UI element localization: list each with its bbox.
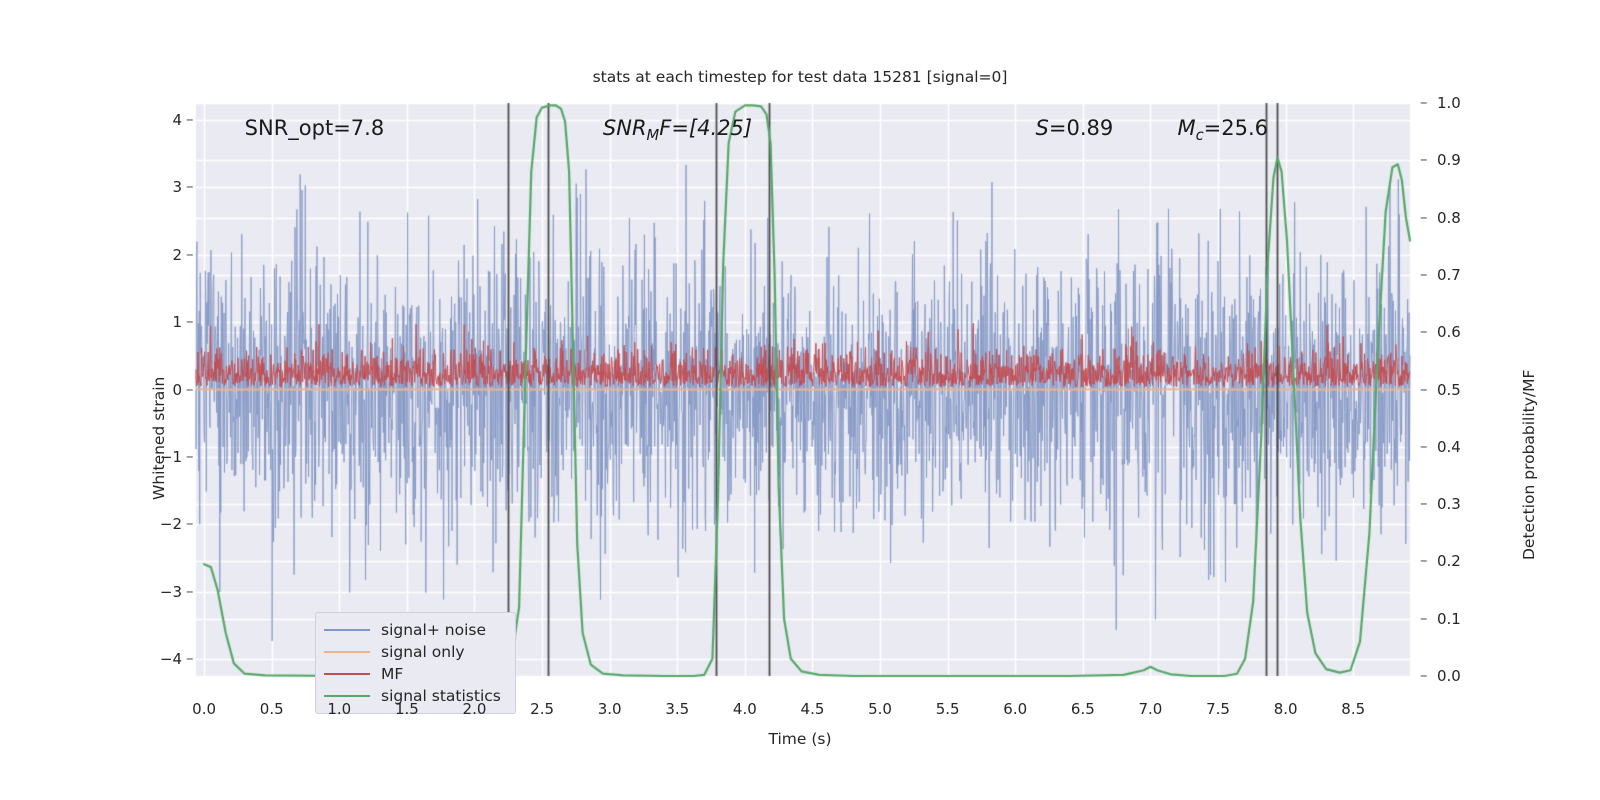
y-tick-label-left: −2 [150,515,182,533]
y-tick-mark-right: – [1420,609,1428,627]
y-tick-mark-left: – [186,582,194,600]
x-tick-label: 1.0 [327,700,351,718]
x-tick-label: 3.5 [665,700,689,718]
x-tick-label: 7.0 [1138,700,1162,718]
y-tick-label-right: 0.2 [1437,552,1461,570]
x-tick-label: 4.0 [733,700,757,718]
legend-color-swatch [324,651,370,653]
y-tick-mark-right: – [1420,150,1428,168]
y-tick-label-left: 3 [150,178,182,196]
x-tick-label: 2.0 [463,700,487,718]
plot-canvas [0,0,1600,800]
y-tick-label-left: −3 [150,583,182,601]
legend-item[interactable]: signal only [324,641,501,663]
legend-color-swatch [324,673,370,675]
y-tick-mark-left: – [186,447,194,465]
chart-title: stats at each timestep for test data 152… [0,68,1600,86]
x-tick-label: 0.5 [260,700,284,718]
y-tick-mark-right: – [1420,265,1428,283]
x-tick-label: 8.5 [1341,700,1365,718]
annotation-s-suffix: =0.89 [1049,116,1113,140]
x-tick-label: 6.0 [1003,700,1027,718]
x-tick-label: 5.0 [868,700,892,718]
y-tick-label-right: 0.9 [1437,151,1461,169]
annotation-mc-prefix: M [1177,116,1195,140]
legend-label: signal only [381,643,465,661]
x-tick-label: 8.0 [1274,700,1298,718]
y-tick-mark-left: – [186,245,194,263]
y-tick-mark-left: – [186,514,194,532]
y-tick-mark-right: – [1420,494,1428,512]
annotation-snr-mf: SNRMF=[4.25] [603,116,752,144]
y-tick-label-left: 4 [150,111,182,129]
annotation-mc-sub: c [1196,127,1204,144]
y-tick-label-left: 2 [150,246,182,264]
y-tick-mark-left: – [186,177,194,195]
x-axis-label: Time (s) [0,730,1600,748]
y-tick-mark-right: – [1420,93,1428,111]
legend-label: signal+ noise [381,621,486,639]
x-tick-label: 0.0 [192,700,216,718]
legend-item[interactable]: MF [324,663,501,685]
y-tick-label-right: 0.0 [1437,667,1461,685]
legend-label: MF [381,665,403,683]
legend-color-swatch [324,695,370,697]
y-tick-label-left: −1 [150,448,182,466]
y-tick-label-left: 1 [150,313,182,331]
y-tick-label-right: 0.4 [1437,438,1461,456]
y-axis-label-right: Detection probability/MF [1520,370,1538,560]
y-tick-label-left: −4 [150,650,182,668]
annotation-snr-mf-suffix: F=[4.25] [659,116,752,140]
y-tick-mark-right: – [1420,551,1428,569]
annotation-snr-mf-prefix: SNR [603,116,647,140]
y-tick-label-right: 0.5 [1437,381,1461,399]
figure: stats at each timestep for test data 152… [0,0,1600,800]
y-tick-mark-left: – [186,110,194,128]
y-tick-label-right: 1.0 [1437,94,1461,112]
y-tick-mark-right: – [1420,322,1428,340]
y-tick-label-right: 0.8 [1437,209,1461,227]
legend: signal+ noisesignal onlyMFsignal statist… [315,612,516,714]
annotation-snr-opt: SNR_opt=7.8 [245,116,385,140]
x-tick-label: 6.5 [1071,700,1095,718]
legend-item[interactable]: signal+ noise [324,619,501,641]
y-tick-label-right: 0.7 [1437,266,1461,284]
y-tick-mark-left: – [186,649,194,667]
y-tick-mark-right: – [1420,208,1428,226]
y-tick-mark-right: – [1420,437,1428,455]
y-tick-mark-left: – [186,380,194,398]
x-tick-label: 5.5 [936,700,960,718]
y-tick-mark-right: – [1420,666,1428,684]
annotation-chirp-mass: Mc=25.6 [1177,116,1268,144]
annotation-s-statistic: S=0.89 [1036,116,1114,140]
x-tick-label: 3.0 [598,700,622,718]
y-tick-label-left: 0 [150,381,182,399]
x-tick-label: 4.5 [801,700,825,718]
x-tick-label: 7.5 [1206,700,1230,718]
annotation-snr-mf-sub: M [647,127,660,144]
annotation-s-prefix: S [1036,116,1049,140]
y-tick-mark-left: – [186,312,194,330]
y-tick-mark-right: – [1420,380,1428,398]
y-tick-label-right: 0.6 [1437,323,1461,341]
y-tick-label-right: 0.3 [1437,495,1461,513]
x-tick-label: 1.5 [395,700,419,718]
legend-color-swatch [324,629,370,631]
annotation-mc-suffix: =25.6 [1204,116,1268,140]
y-tick-label-right: 0.1 [1437,610,1461,628]
x-tick-label: 2.5 [530,700,554,718]
